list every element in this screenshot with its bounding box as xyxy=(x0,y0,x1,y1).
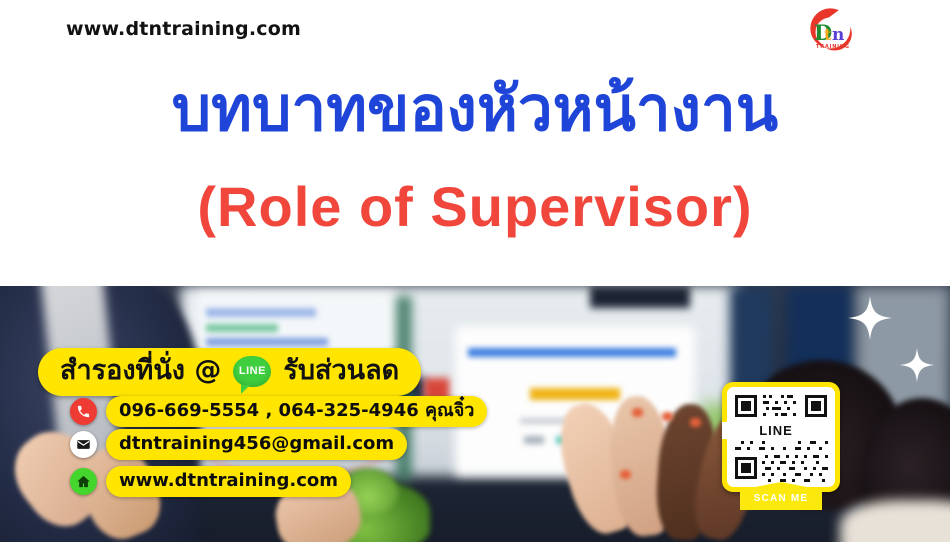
poster-root: www.dtntraining.com D t n TRAINING บทบาท… xyxy=(0,0,950,542)
email-icon xyxy=(70,431,97,458)
scan-me-tag: SCAN ME xyxy=(740,482,822,510)
svg-text:TRAINING: TRAINING xyxy=(816,44,850,50)
cta-text-before: สำรองที่นั่ง @ xyxy=(60,354,221,388)
photo-fingernail xyxy=(620,470,631,479)
contact-row-phone[interactable]: 096-669-5554 , 064-325-4946 คุณจิ๋ว xyxy=(70,396,487,427)
site-url-text: www.dtntraining.com xyxy=(66,18,301,40)
sparkle-icon xyxy=(848,296,892,340)
photo-fingernail xyxy=(632,408,643,417)
home-icon xyxy=(70,468,97,495)
photo-chart-band xyxy=(206,324,278,332)
photo-chart-band xyxy=(206,308,316,317)
line-icon-label: LINE xyxy=(239,365,266,377)
line-qr-code[interactable]: LINE SCAN ME xyxy=(722,382,840,510)
qr-frame: LINE xyxy=(722,382,840,492)
contact-row-website[interactable]: www.dtntraining.com xyxy=(70,466,351,497)
page-title-thai: บทบาทของหัวหน้างาน xyxy=(0,74,950,144)
photo-screen-highlight xyxy=(530,388,620,400)
photo-monitor-top xyxy=(590,286,690,308)
page-title-english: (Role of Supervisor) xyxy=(0,176,950,238)
dtn-training-logo: D t n TRAINING xyxy=(801,8,859,56)
svg-text:n: n xyxy=(832,25,844,45)
reserve-seat-banner[interactable]: สำรองที่นั่ง @ LINE รับส่วนลด xyxy=(38,348,421,396)
photo-person-shoulder xyxy=(840,500,950,542)
email-text: dtntraining456@gmail.com xyxy=(106,429,407,460)
line-icon[interactable]: LINE xyxy=(233,356,271,387)
cta-text-after: รับส่วนลด xyxy=(283,354,399,388)
website-text: www.dtntraining.com xyxy=(106,466,351,497)
photo-chart-band xyxy=(206,338,328,346)
contact-row-email[interactable]: dtntraining456@gmail.com xyxy=(70,429,407,460)
svg-text:t: t xyxy=(824,25,832,44)
sparkle-icon xyxy=(900,348,934,382)
phone-number-text: 096-669-5554 , 064-325-4946 คุณจิ๋ว xyxy=(106,396,487,427)
photo-fingernail xyxy=(690,418,701,427)
photo-fingernail xyxy=(662,412,673,421)
photo-screen-bar xyxy=(468,348,676,357)
phone-icon xyxy=(70,398,97,425)
photo-screen-text xyxy=(524,436,544,444)
qr-center-label: LINE xyxy=(722,422,830,439)
scan-me-label: SCAN ME xyxy=(740,493,822,504)
header-band: www.dtntraining.com D t n TRAINING บทบาท… xyxy=(0,0,950,286)
